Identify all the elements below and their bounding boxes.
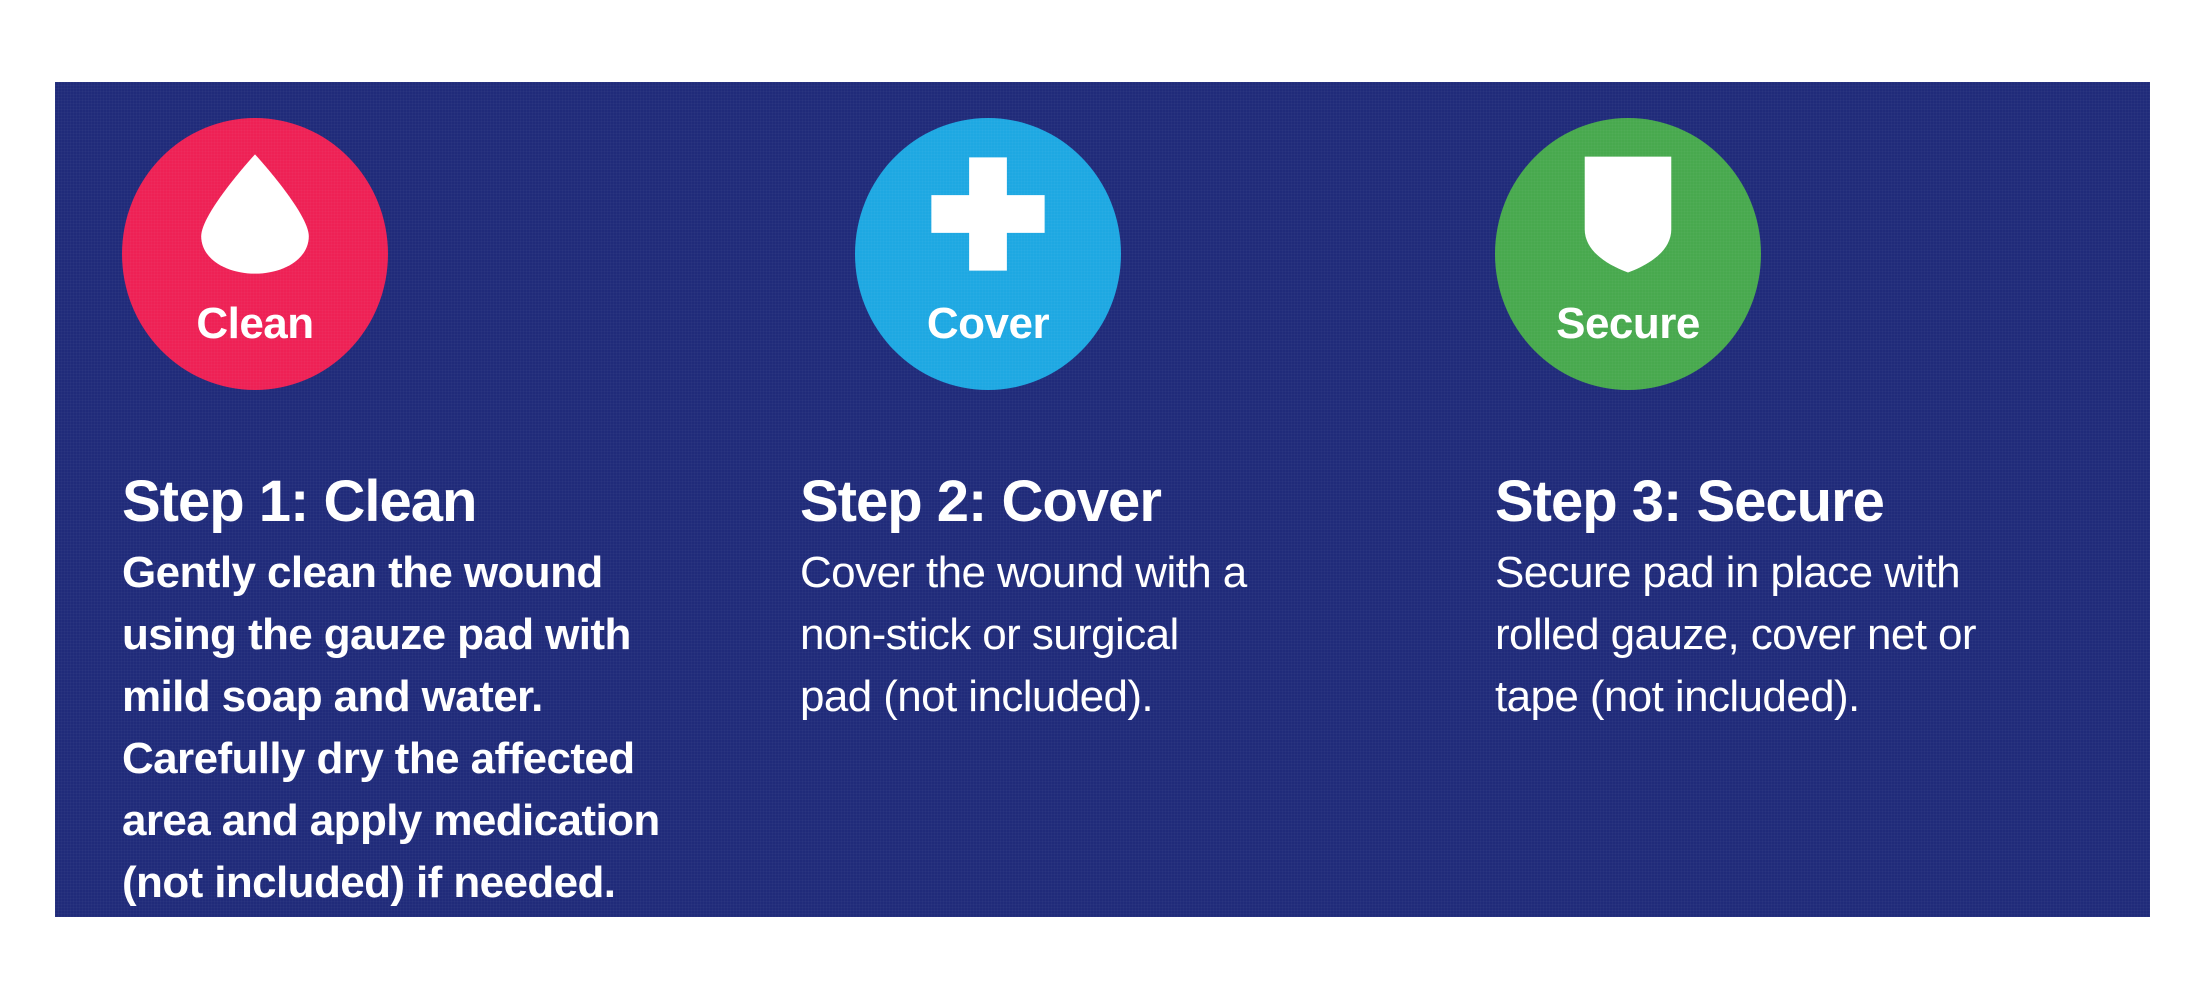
step-column-clean: Clean Step 1: Clean Gently clean the wou… [122, 82, 762, 917]
step-body-cover: Cover the wound with a non-stick or surg… [800, 542, 1440, 728]
water-droplet-icon [196, 152, 314, 276]
step-text-clean: Step 1: Clean Gently clean the wound usi… [122, 470, 762, 914]
badge-label-clean: Clean [122, 302, 388, 346]
shield-icon [1569, 152, 1687, 276]
steps-container: Clean Step 1: Clean Gently clean the wou… [55, 82, 2150, 917]
step-column-cover: Cover Step 2: Cover Cover the wound with… [800, 82, 1440, 917]
step-column-secure: Secure Step 3: Secure Secure pad in plac… [1495, 82, 2140, 917]
badge-secure: Secure [1495, 118, 1761, 390]
step-heading-clean: Step 1: Clean [122, 470, 762, 534]
medical-cross-icon [929, 152, 1047, 276]
step-body-clean: Gently clean the wound using the gauze p… [122, 542, 762, 914]
badge-label-cover: Cover [855, 302, 1121, 346]
badge-clean: Clean [122, 118, 388, 390]
step-heading-cover: Step 2: Cover [800, 470, 1440, 534]
step-text-secure: Step 3: Secure Secure pad in place with … [1495, 470, 2140, 728]
step-body-secure: Secure pad in place with rolled gauze, c… [1495, 542, 2140, 728]
badge-cover: Cover [855, 118, 1121, 390]
badge-label-secure: Secure [1495, 302, 1761, 346]
wound-care-instructions-panel: Clean Step 1: Clean Gently clean the wou… [55, 82, 2150, 917]
step-text-cover: Step 2: Cover Cover the wound with a non… [800, 470, 1440, 728]
step-heading-secure: Step 3: Secure [1495, 470, 2140, 534]
